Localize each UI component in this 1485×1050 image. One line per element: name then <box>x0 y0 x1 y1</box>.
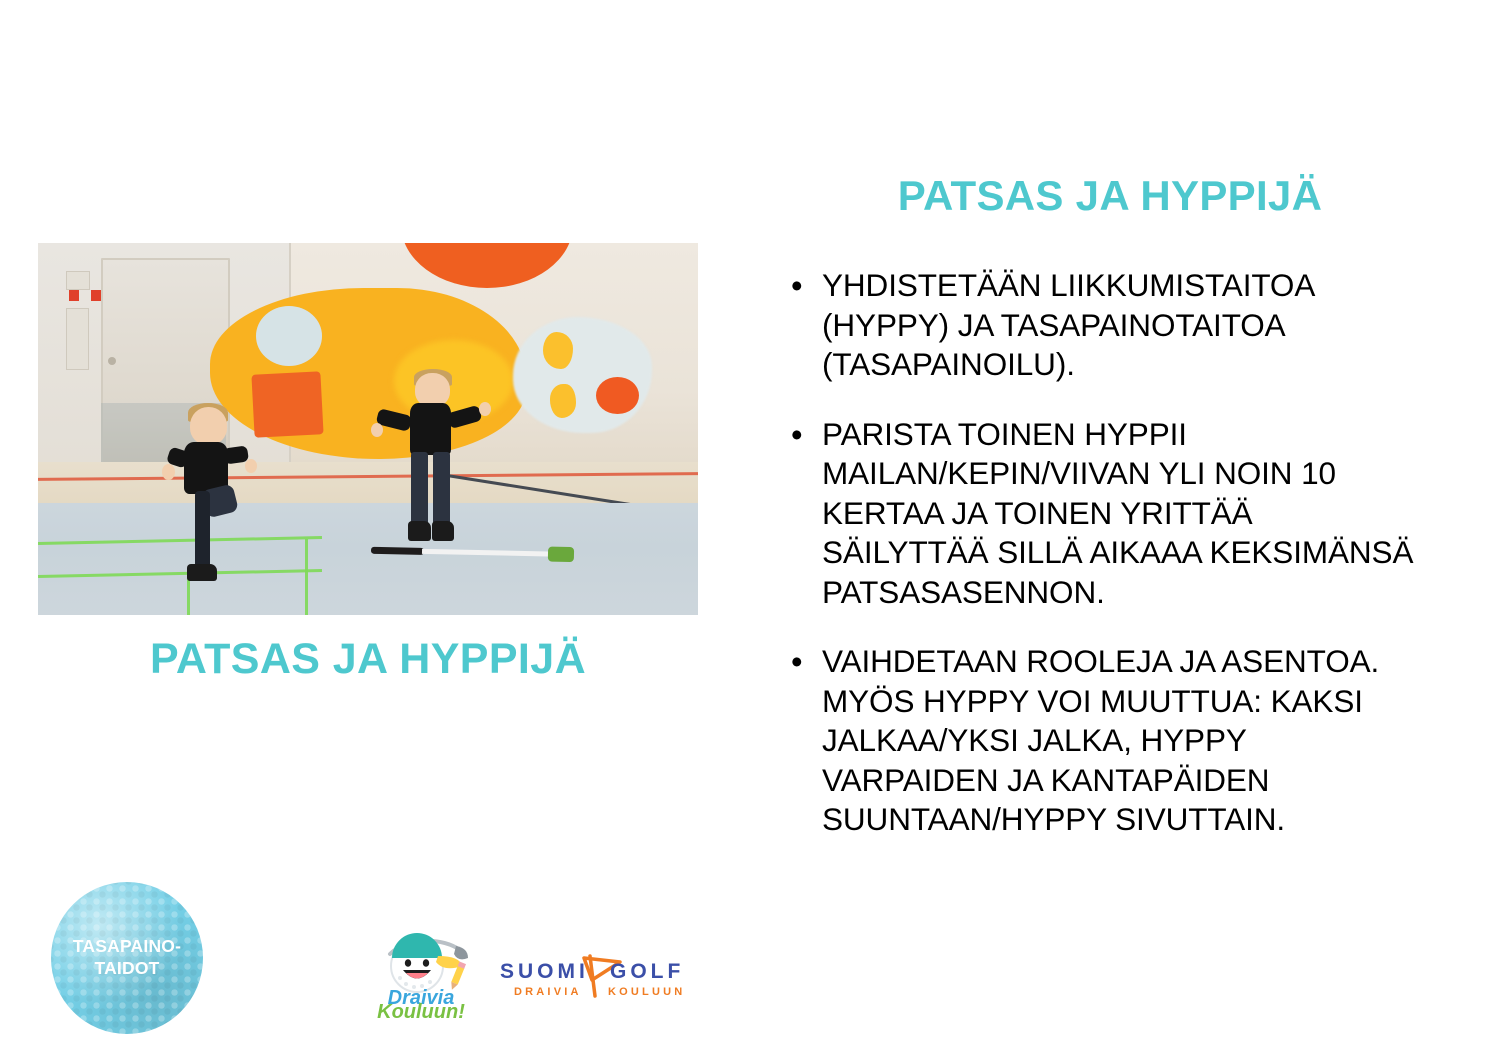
bullet-list: • YHDISTETÄÄN LIIKKUMISTAITOA (HYPPY) JA… <box>791 266 1441 870</box>
wall-art-orange-dot <box>596 377 639 414</box>
child-hand <box>479 402 491 416</box>
photo-caption: PATSAS JA HYPPIJÄ <box>38 636 698 683</box>
child-head <box>415 373 450 407</box>
wall-art-orange-square <box>251 371 324 438</box>
wall-art-light-oval <box>256 306 322 366</box>
child-torso <box>410 403 451 455</box>
badge-label: TASAPAINO- TAIDOT <box>51 936 203 980</box>
golf-club-grip <box>371 547 424 555</box>
wall-sign-icon <box>69 290 79 301</box>
gym-floor <box>38 503 698 615</box>
floor-marking-line <box>305 539 308 615</box>
page-title: PATSAS JA HYPPIJÄ <box>760 172 1460 220</box>
child-leg <box>433 452 450 527</box>
bullet-marker-icon: • <box>791 266 822 305</box>
list-item-text: VAIHDETAAN ROOLEJA JA ASENTOA. MYÖS HYPP… <box>822 642 1441 840</box>
suomi-golf-logo-icon: SUOMI GOLF DRAIVIA KOULUUN <box>498 950 682 1002</box>
child-hand <box>162 464 175 480</box>
wall-art-white-blob <box>513 317 652 432</box>
child-shoe <box>432 521 455 541</box>
kouluun-subtext: KOULUUN <box>608 986 682 998</box>
suomi-wordmark: SUOMI <box>500 960 589 983</box>
child-jumping <box>385 369 487 548</box>
draivia-kouluun-logo: Draivia Kouluun! <box>360 928 482 1020</box>
child-arm <box>446 405 482 429</box>
list-item: • PARISTA TOINEN HYPPII MAILAN/KEPIN/VII… <box>791 415 1441 613</box>
kouluun-wordmark: Kouluun! <box>377 1001 465 1020</box>
gym-photo <box>38 243 698 615</box>
bullet-marker-icon: • <box>791 642 822 681</box>
child-shoe <box>187 564 217 581</box>
golf-club-head <box>549 547 575 563</box>
list-item: • VAIHDETAAN ROOLEJA JA ASENTOA. MYÖS HY… <box>791 642 1441 840</box>
list-item: • YHDISTETÄÄN LIIKKUMISTAITOA (HYPPY) JA… <box>791 266 1441 385</box>
child-shoe <box>408 521 431 541</box>
child-leg <box>411 452 428 527</box>
suomi-golf-logo: SUOMI GOLF DRAIVIA KOULUUN <box>498 950 682 1002</box>
list-item-text: PARISTA TOINEN HYPPII MAILAN/KEPIN/VIIVA… <box>822 415 1441 613</box>
wall-panel-switch <box>66 271 90 290</box>
bullet-marker-icon: • <box>791 415 822 454</box>
draivia-logo-icon: Draivia Kouluun! <box>360 928 482 1020</box>
wall-panel-switch <box>66 308 89 370</box>
draivia-subtext: DRAIVIA <box>514 986 582 998</box>
child-head <box>190 407 228 445</box>
golf-wordmark: GOLF <box>610 960 682 983</box>
status-badge: TASAPAINO- TAIDOT <box>51 882 203 1034</box>
list-item-text: YHDISTETÄÄN LIIKKUMISTAITOA (HYPPY) JA T… <box>822 266 1441 385</box>
child-balancing <box>162 407 261 582</box>
wall-art-yellow-shape <box>550 384 576 417</box>
child-hand <box>245 459 257 473</box>
child-standing-leg <box>195 491 210 570</box>
wall-sign-icon <box>91 290 101 301</box>
